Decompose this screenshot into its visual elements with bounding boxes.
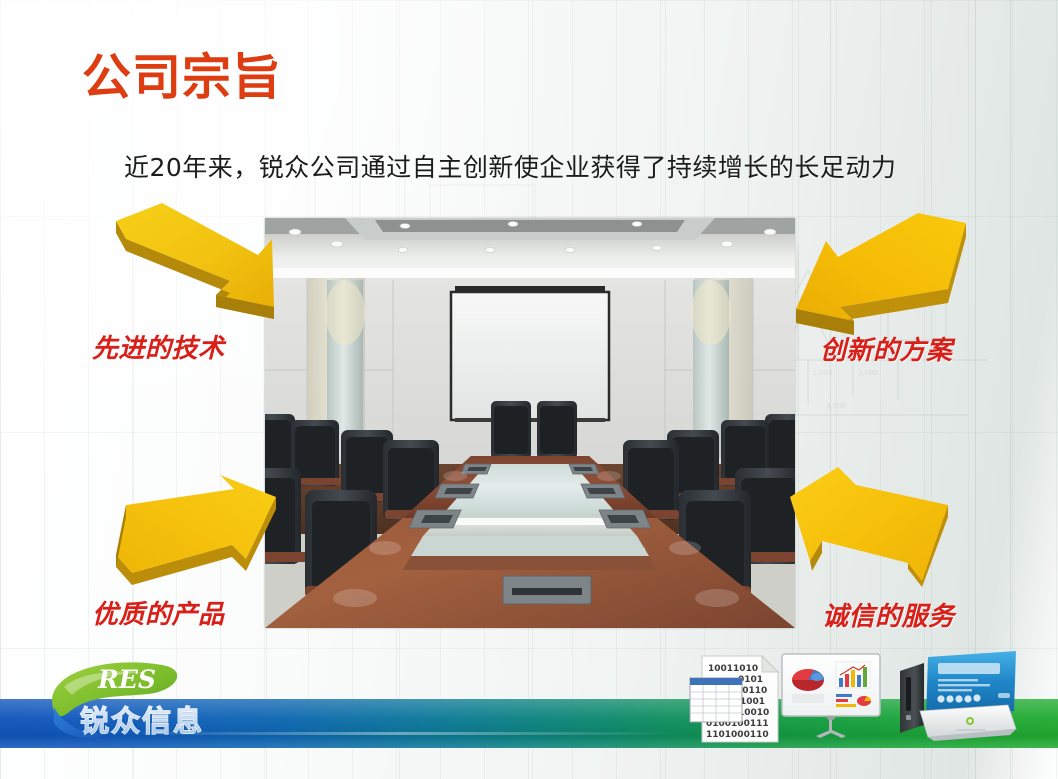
subtitle-text: 近20年来，锐众公司通过自主创新使企业获得了持续增长的长足动力 <box>124 148 896 184</box>
arrow-down-right-icon <box>112 203 292 335</box>
presentation-screen-graphic <box>778 652 884 746</box>
slide: 1,200 1,500 2,000 3,600 3,900 6,40 公司宗旨 … <box>0 0 1058 779</box>
arrow-down-left-3d <box>782 213 968 337</box>
arrow-up-left-icon <box>782 463 968 587</box>
logo-cn-text: 锐众信息 <box>80 704 204 738</box>
conference-room-photo <box>265 218 795 628</box>
arrow-down-left-icon <box>782 213 968 337</box>
conference-room-illustration-icon <box>265 218 795 628</box>
server-monitor-graphic <box>898 649 1022 745</box>
callout-label-bottom-left: 优质的产品 <box>92 594 225 631</box>
company-logo-icon: RES 锐众信息 <box>44 657 294 743</box>
arrow-down-right-3d <box>112 203 292 335</box>
arrow-up-left-3d <box>782 463 968 587</box>
binary-document-graphic: 10011010 0101 00110 1001 10010 010010011… <box>688 654 792 746</box>
svg-text:1,500: 1,500 <box>812 369 832 377</box>
svg-text:3,900: 3,900 <box>826 402 846 410</box>
binary-document-icon: 10011010 0101 00110 1001 10010 010010011… <box>688 654 792 746</box>
svg-text:1001: 1001 <box>740 697 765 707</box>
logo-latin-text: RES <box>97 665 156 694</box>
arrow-up-right-icon <box>110 463 292 587</box>
callout-label-bottom-right: 诚信的服务 <box>822 596 955 633</box>
company-logo: RES 锐众信息 <box>44 657 294 743</box>
page-title: 公司宗旨 <box>82 38 282 109</box>
server-monitor-icon <box>898 649 1022 745</box>
svg-text:1101000110: 1101000110 <box>706 730 769 740</box>
svg-text:2,000: 2,000 <box>858 369 878 377</box>
svg-text:10010: 10010 <box>738 708 769 718</box>
presentation-screen-icon <box>778 652 884 746</box>
callout-label-top-right: 创新的方案 <box>820 330 953 367</box>
callout-label-top-left: 先进的技术 <box>92 328 225 365</box>
arrow-up-right-3d <box>110 463 292 587</box>
svg-text:10011010: 10011010 <box>708 664 758 674</box>
